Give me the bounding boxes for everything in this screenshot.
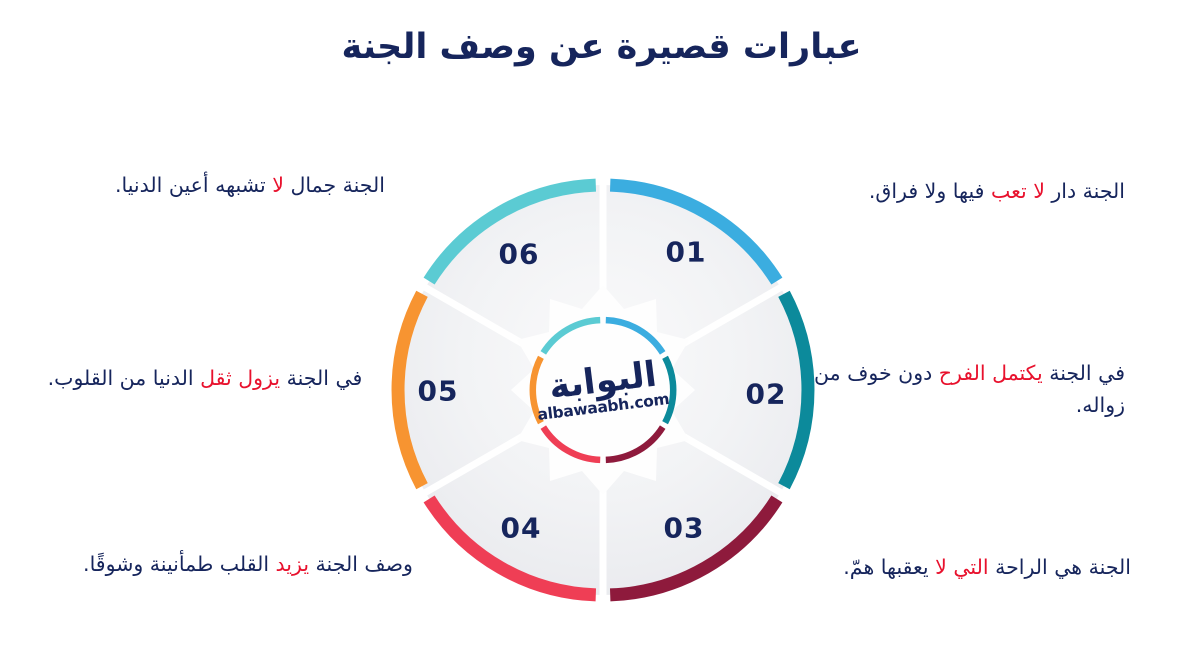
segment-caption-02: في الجنة يكتمل الفرح دون خوف من زواله.: [795, 358, 1125, 422]
segment-caption-06: الجنة جمال لا تشبهه أعين الدنيا.: [60, 170, 440, 202]
logo-badge-svg: [496, 283, 710, 497]
infographic-canvas: عبارات قصيرة عن وصف الجنة: [0, 0, 1203, 653]
caption-text: الجنة جمال: [284, 173, 385, 197]
segment-number-06: 06: [499, 238, 540, 271]
caption-text: في الجنة: [280, 366, 362, 390]
segment-number-02: 02: [746, 378, 787, 411]
segment-number-03: 03: [664, 512, 705, 545]
caption-text: الجنة هي الراحة: [989, 555, 1131, 579]
segment-number-01: 01: [666, 236, 707, 269]
starburst-shape: [511, 285, 695, 495]
caption-text: الجنة دار: [1045, 179, 1125, 203]
segment-caption-03: الجنة هي الراحة التي لا يعقبها همّ.: [776, 552, 1131, 584]
caption-highlight: التي لا: [935, 555, 988, 579]
caption-text: وصف الجنة: [309, 552, 413, 576]
caption-highlight: لا تعب: [991, 179, 1045, 203]
segment-number-04: 04: [501, 512, 542, 545]
center-logo-badge[interactable]: البوابة albawaabh.com: [496, 283, 710, 497]
segment-caption-01: الجنة دار لا تعب فيها ولا فراق.: [795, 176, 1125, 208]
caption-text: القلب طمأنينة وشوقًا.: [83, 552, 276, 576]
segment-caption-04: وصف الجنة يزيد القلب طمأنينة وشوقًا.: [78, 549, 418, 581]
caption-text: يعقبها همّ.: [843, 555, 935, 579]
caption-highlight: لا: [272, 173, 284, 197]
caption-text: في الجنة: [1043, 361, 1125, 385]
segment-number-05: 05: [418, 375, 459, 408]
caption-text: تشبهه أعين الدنيا.: [115, 173, 272, 197]
caption-highlight: يكتمل الفرح: [939, 361, 1043, 385]
caption-highlight: يزيد: [276, 552, 309, 576]
caption-text: الدنيا من القلوب.: [48, 366, 200, 390]
page-title: عبارات قصيرة عن وصف الجنة: [0, 26, 1203, 70]
segment-caption-05: في الجنة يزول ثقل الدنيا من القلوب.: [40, 363, 370, 395]
caption-highlight: يزول ثقل: [200, 366, 280, 390]
caption-text: فيها ولا فراق.: [869, 179, 991, 203]
